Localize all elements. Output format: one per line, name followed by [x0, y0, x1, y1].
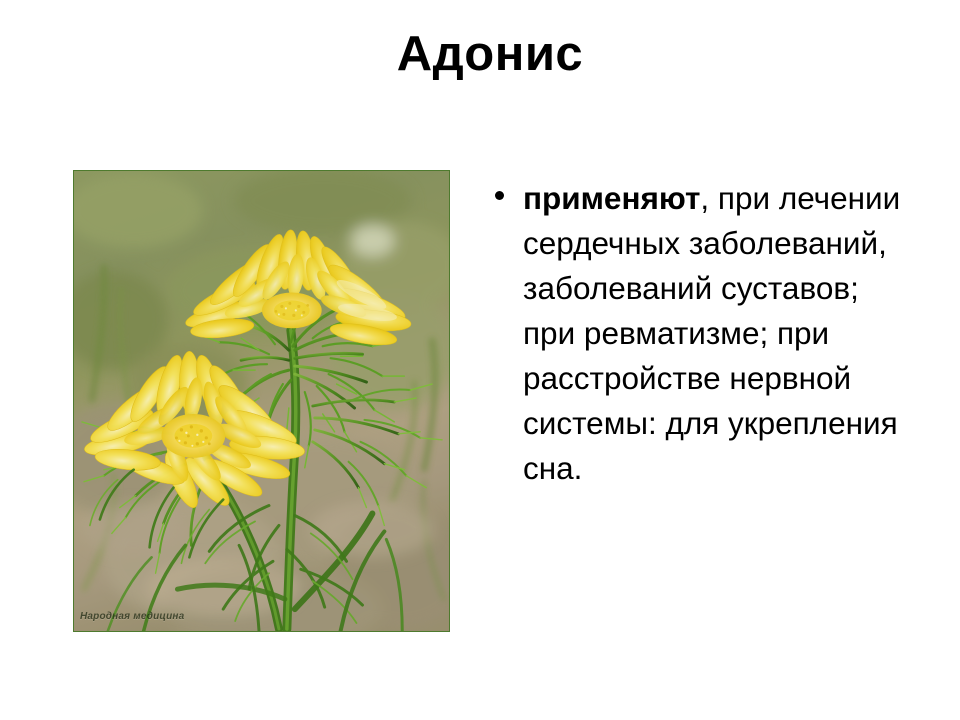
bullet-rest: , при лечении сердечных заболеваний, заб…	[523, 180, 900, 486]
photo-watermark: Народная медицина	[80, 611, 184, 622]
list-item: применяют, при лечении сердечных заболев…	[488, 176, 918, 491]
bullet-dot-icon	[495, 191, 504, 200]
adonis-photo-image	[74, 171, 449, 631]
adonis-photo: Народная медицина	[73, 170, 450, 632]
slide-canvas: Адонис	[0, 0, 960, 720]
page-title: Адонис	[0, 28, 960, 81]
bullet-text: применяют, при лечении сердечных заболев…	[523, 176, 918, 491]
content-body: применяют, при лечении сердечных заболев…	[488, 176, 918, 491]
bullet-lead-bold: применяют	[523, 180, 700, 216]
page-title-text: Адонис	[397, 28, 583, 81]
